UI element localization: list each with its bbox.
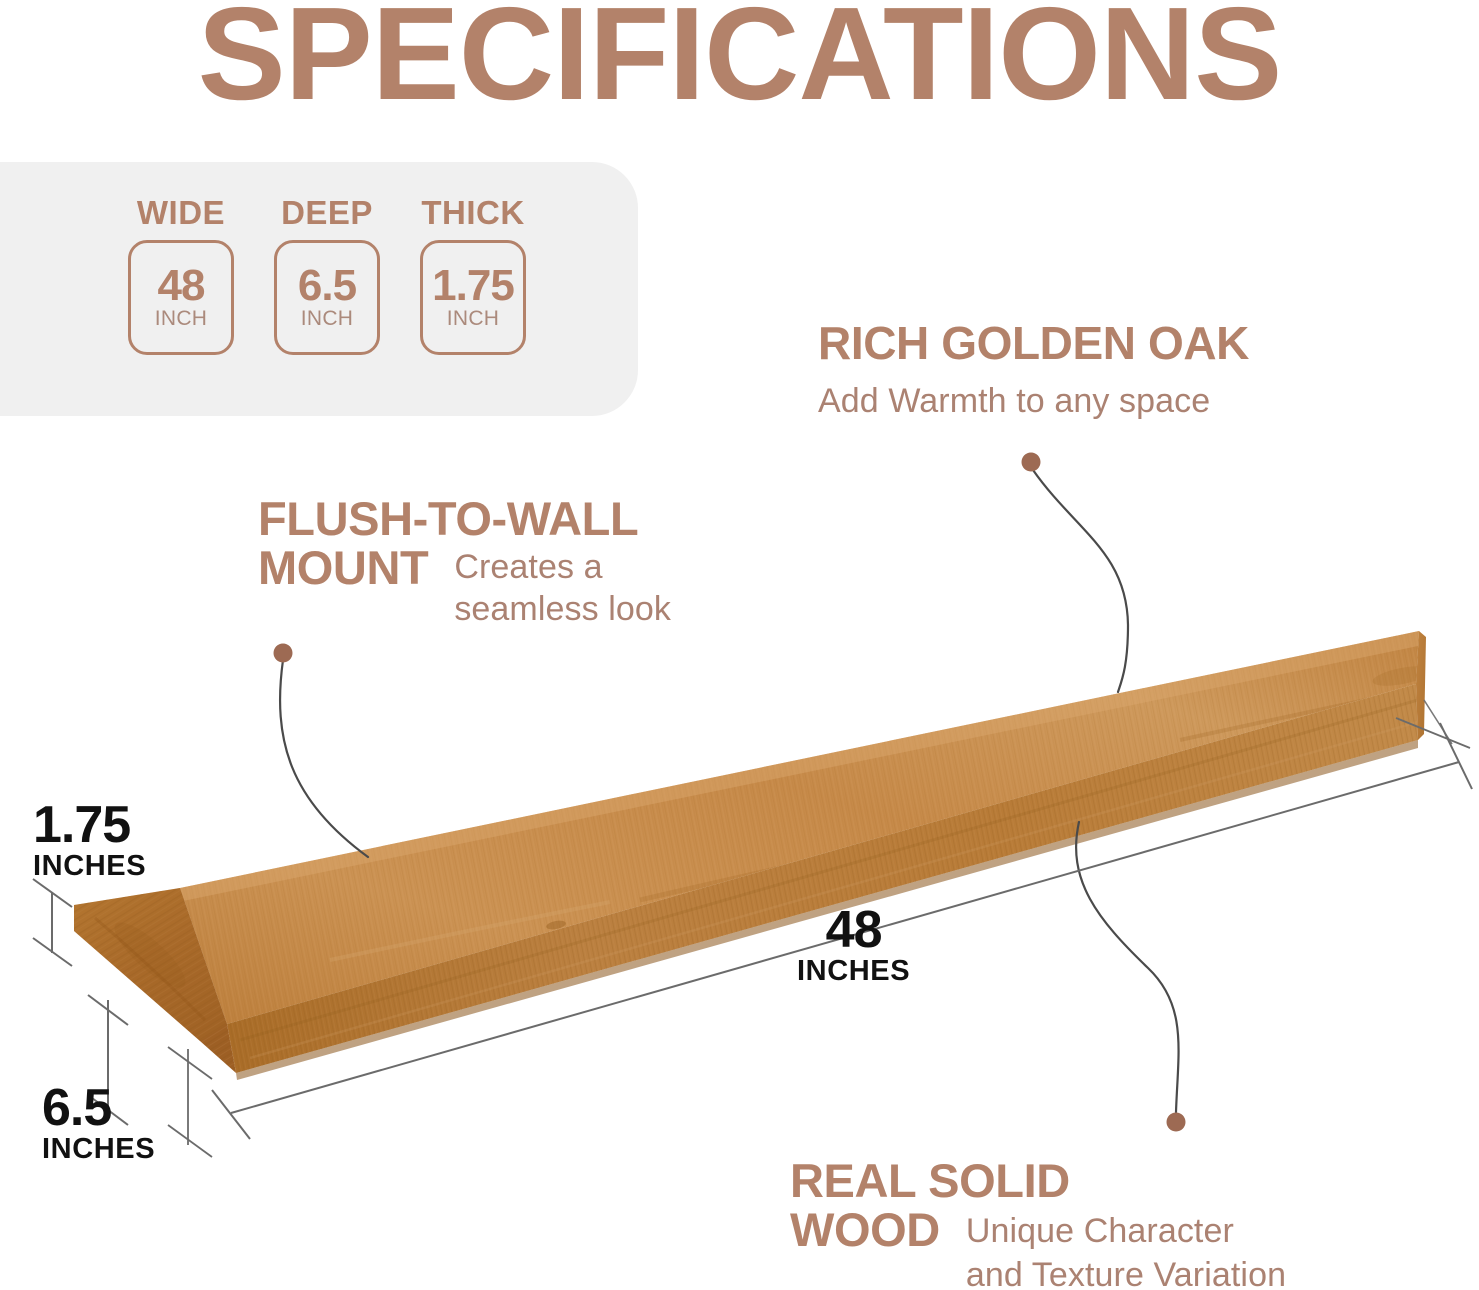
callout-wood-sub-line2: and Texture Variation	[966, 1256, 1286, 1290]
callout-wood-subtext: Unique Character and Texture Variation	[966, 1206, 1286, 1290]
callout-wood-heading-line1: REAL SOLID	[790, 1157, 1286, 1206]
callout-flush-heading-line2: MOUNT	[258, 544, 428, 593]
callout-flush-heading-line1: FLUSH-TO-WALL	[258, 495, 671, 544]
callout-flush-to-wall-mount: FLUSH-TO-WALL MOUNT Creates a seamless l…	[258, 495, 671, 628]
callout-real-solid-wood: REAL SOLID WOOD Unique Character and Tex…	[790, 1157, 1286, 1290]
callout-rich-golden-oak: RICH GOLDEN OAK Add Warmth to any space	[818, 320, 1249, 420]
dimension-label-width: 48 INCHES	[797, 905, 910, 985]
wood-shelf-illustration	[0, 0, 1479, 1290]
callout-flush-sub-line1: Creates a	[454, 548, 671, 586]
dimension-label-depth: 6.5 INCHES	[42, 1083, 155, 1163]
dimension-label-thickness: 1.75 INCHES	[33, 800, 146, 880]
callout-flush-subtext: Creates a seamless look	[454, 544, 671, 628]
callout-oak-heading: RICH GOLDEN OAK	[818, 320, 1249, 368]
dimension-thickness-unit: INCHES	[33, 852, 146, 880]
dimension-width-value: 48	[797, 905, 910, 956]
callout-wood-sub-line1: Unique Character	[966, 1212, 1286, 1250]
specifications-infographic: SPECIFICATIONS WIDE 48 INCH DEEP 6.5 INC…	[0, 0, 1479, 1290]
dimension-width-unit: INCHES	[797, 957, 910, 985]
dimension-depth-unit: INCHES	[42, 1135, 155, 1163]
dimension-thickness-value: 1.75	[33, 800, 146, 851]
callout-wood-heading-line2: WOOD	[790, 1206, 940, 1255]
dimension-depth-value: 6.5	[42, 1083, 155, 1134]
callout-flush-sub-line2: seamless look	[454, 590, 671, 628]
callout-flush-second-row: MOUNT Creates a seamless look	[258, 544, 671, 628]
callout-wood-second-row: WOOD Unique Character and Texture Variat…	[790, 1206, 1286, 1290]
callout-oak-subtext: Add Warmth to any space	[818, 382, 1249, 420]
